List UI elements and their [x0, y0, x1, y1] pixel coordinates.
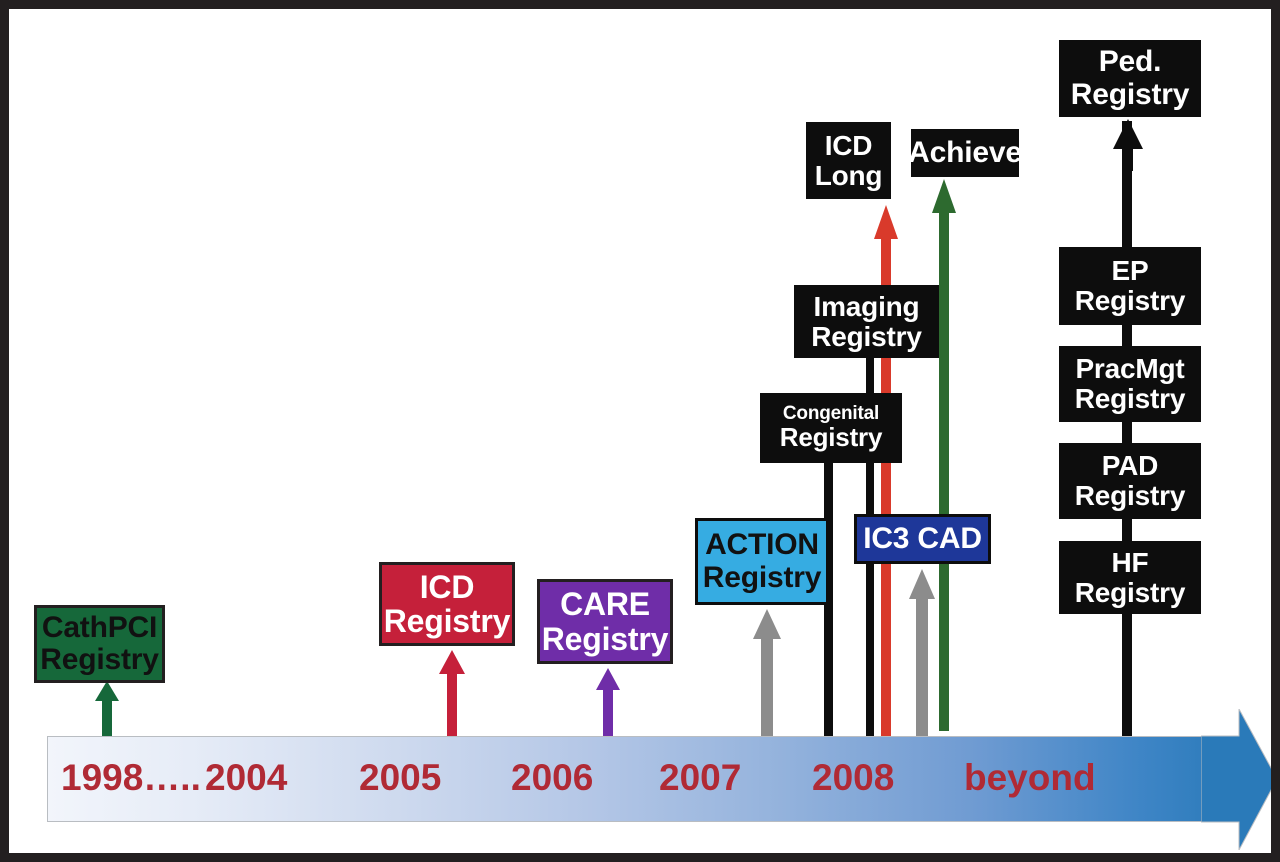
box-congenital-line2: Registry [780, 424, 882, 452]
box-ped-line1: Ped. [1099, 46, 1162, 78]
icd-arrow [436, 650, 468, 739]
box-pracmgt-registry[interactable]: PracMgt Registry [1059, 346, 1201, 422]
box-pad-registry[interactable]: PAD Registry [1059, 443, 1201, 519]
box-icd-long[interactable]: ICD Long [806, 122, 891, 199]
box-care-line1: CARE [560, 587, 650, 621]
box-ic3-cad[interactable]: IC3 CAD [854, 514, 991, 564]
box-icd-long-line2: Long [815, 161, 883, 191]
box-ep-line1: EP [1112, 256, 1149, 286]
year-label-2007: 2007 [659, 757, 741, 799]
figure-frame: 1998….. 2004 2005 2006 2007 2008 beyond … [0, 0, 1280, 862]
box-pad-line2: Registry [1075, 481, 1185, 511]
box-pracmgt-line2: Registry [1075, 384, 1185, 414]
year-label-beyond: beyond [964, 757, 1096, 799]
box-hf-registry[interactable]: HF Registry [1059, 541, 1201, 614]
box-ic3-cad-label: IC3 CAD [863, 523, 982, 555]
year-label-1998: 1998….. [61, 757, 201, 799]
box-hf-line2: Registry [1075, 578, 1185, 608]
box-congenital-registry[interactable]: Congenital Registry [760, 393, 902, 463]
box-icd-line2: Registry [384, 604, 510, 638]
box-achieve[interactable]: Achieve [911, 129, 1019, 177]
box-ep-registry[interactable]: EP Registry [1059, 247, 1201, 325]
year-label-2008: 2008 [812, 757, 894, 799]
box-care-line2: Registry [542, 622, 668, 656]
box-pad-line1: PAD [1102, 451, 1158, 481]
box-pracmgt-line1: PracMgt [1075, 354, 1184, 384]
box-hf-line1: HF [1112, 548, 1149, 578]
box-ped-line2: Registry [1071, 79, 1189, 111]
box-cathpci-registry[interactable]: CathPCI Registry [34, 605, 165, 683]
care-arrow [594, 668, 622, 739]
year-label-2004: 2004 [205, 757, 287, 799]
box-icd-registry[interactable]: ICD Registry [379, 562, 515, 646]
box-achieve-label: Achieve [908, 137, 1022, 169]
box-icd-long-line1: ICD [825, 131, 873, 161]
ped-arrow-head [1111, 119, 1145, 171]
year-label-2005: 2005 [359, 757, 441, 799]
box-ep-line2: Registry [1075, 286, 1185, 316]
box-cathpci-line2: Registry [40, 644, 158, 676]
box-ped-registry[interactable]: Ped. Registry [1059, 40, 1201, 117]
box-congenital-line1: Congenital [783, 404, 879, 424]
box-care-registry[interactable]: CARE Registry [537, 579, 673, 664]
box-imaging-line1: Imaging [814, 292, 920, 322]
box-icd-line1: ICD [420, 570, 475, 604]
box-action-line2: Registry [703, 562, 821, 594]
achieve-arrow [929, 179, 959, 731]
box-cathpci-line1: CathPCI [42, 612, 157, 644]
box-imaging-line2: Registry [811, 322, 921, 352]
timeline-year-labels: 1998….. 2004 2005 2006 2007 2008 beyond [47, 736, 1237, 822]
year-label-2006: 2006 [511, 757, 593, 799]
right-stack-connector-line [1122, 121, 1132, 739]
action-arrow [751, 609, 783, 739]
box-action-line1: ACTION [705, 529, 819, 561]
diagram-canvas: 1998….. 2004 2005 2006 2007 2008 beyond … [9, 9, 1271, 853]
box-imaging-registry[interactable]: Imaging Registry [794, 285, 939, 358]
box-action-registry[interactable]: ACTION Registry [695, 518, 829, 605]
cathpci-arrow [93, 681, 121, 739]
